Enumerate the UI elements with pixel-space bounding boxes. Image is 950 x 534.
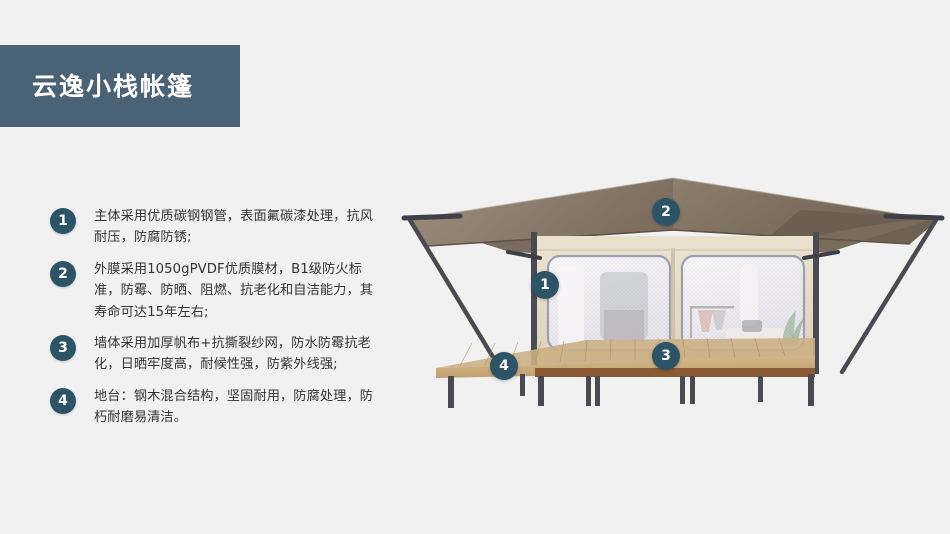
callout-badge-1: 1 — [531, 271, 559, 299]
list-item: 1 主体采用优质碳钢钢管，表面氟碳漆处理，抗风耐压，防腐防锈; — [50, 206, 380, 249]
feature-text-2: 外膜采用1050gPVDF优质膜材，B1级防火标准，防霉、防晒、阻燃、抗老化和自… — [94, 259, 380, 323]
callout-badge-4: 4 — [490, 352, 518, 380]
feature-badge-3: 3 — [50, 335, 76, 361]
list-item: 4 地台：钢木混合结构，坚固耐用，防腐处理，防朽耐磨易清洁。 — [50, 386, 380, 429]
slide-canvas: 云逸小栈帐篷 1 主体采用优质碳钢钢管，表面氟碳漆处理，抗风耐压，防腐防锈; 2… — [0, 0, 950, 534]
page-title: 云逸小栈帐篷 — [32, 74, 194, 99]
feature-text-3: 墙体采用加厚帆布+抗撕裂纱网，防水防霉抗老化，日晒牢度高，耐候性强，防紫外线强; — [94, 333, 380, 376]
feature-badge-1: 1 — [50, 208, 76, 234]
list-item: 3 墙体采用加厚帆布+抗撕裂纱网，防水防霉抗老化，日晒牢度高，耐候性强，防紫外线… — [50, 333, 380, 376]
title-banner: 云逸小栈帐篷 — [0, 45, 240, 127]
feature-text-1: 主体采用优质碳钢钢管，表面氟碳漆处理，抗风耐压，防腐防锈; — [94, 206, 380, 249]
feature-text-4: 地台：钢木混合结构，坚固耐用，防腐处理，防朽耐磨易清洁。 — [94, 386, 380, 429]
feature-badge-2: 2 — [50, 261, 76, 287]
callout-badge-2: 2 — [652, 198, 680, 226]
feature-list: 1 主体采用优质碳钢钢管，表面氟碳漆处理，抗风耐压，防腐防锈; 2 外膜采用10… — [50, 206, 380, 438]
list-item: 2 外膜采用1050gPVDF优质膜材，B1级防火标准，防霉、防晒、阻燃、抗老化… — [50, 259, 380, 323]
callout-badge-3: 3 — [652, 342, 680, 370]
feature-badge-4: 4 — [50, 388, 76, 414]
